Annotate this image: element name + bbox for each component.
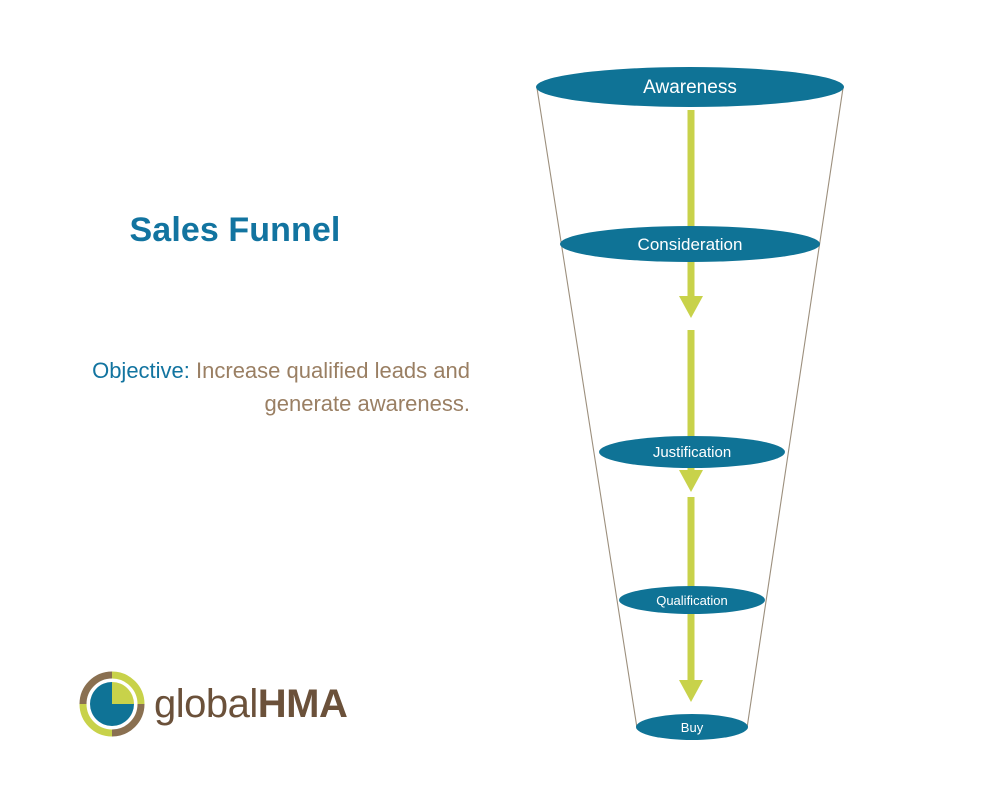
funnel-stage-consideration[interactable]: [560, 226, 820, 262]
logo-mark-svg: [78, 670, 146, 738]
logo-word-hma: HMA: [258, 682, 348, 726]
funnel-stage-buy[interactable]: [636, 714, 748, 740]
slide-canvas: Sales Funnel Objective: Increase qualifi…: [0, 0, 1008, 792]
funnel-stage-awareness[interactable]: [536, 67, 844, 107]
objective-text: Increase qualified leads and generate aw…: [190, 358, 470, 416]
consideration-to-justification-arrowhead-icon: [679, 470, 703, 492]
justification-to-buy-arrowhead-icon: [679, 680, 703, 702]
logo: globalHMA: [78, 668, 378, 742]
funnel-stage-qualification[interactable]: [619, 586, 765, 614]
funnel-outline-left: [537, 88, 637, 728]
awareness-to-consideration-arrowhead-icon: [679, 296, 703, 318]
funnel-stage-justification[interactable]: [599, 436, 785, 468]
funnel-svg: [500, 0, 1008, 792]
objective-block: Objective: Increase qualified leads and …: [0, 355, 470, 420]
page-title: Sales Funnel: [0, 212, 470, 249]
logo-wordmark: globalHMA: [154, 676, 347, 732]
sales-funnel-diagram: AwarenessConsiderationJustificationQuali…: [500, 0, 1008, 792]
logo-word-global: global: [154, 682, 258, 726]
left-content-panel: Sales Funnel Objective: Increase qualifi…: [0, 0, 500, 792]
funnel-outline-right: [747, 88, 843, 728]
globalhma-logo-icon: [78, 670, 146, 738]
objective-label: Objective:: [92, 358, 190, 383]
